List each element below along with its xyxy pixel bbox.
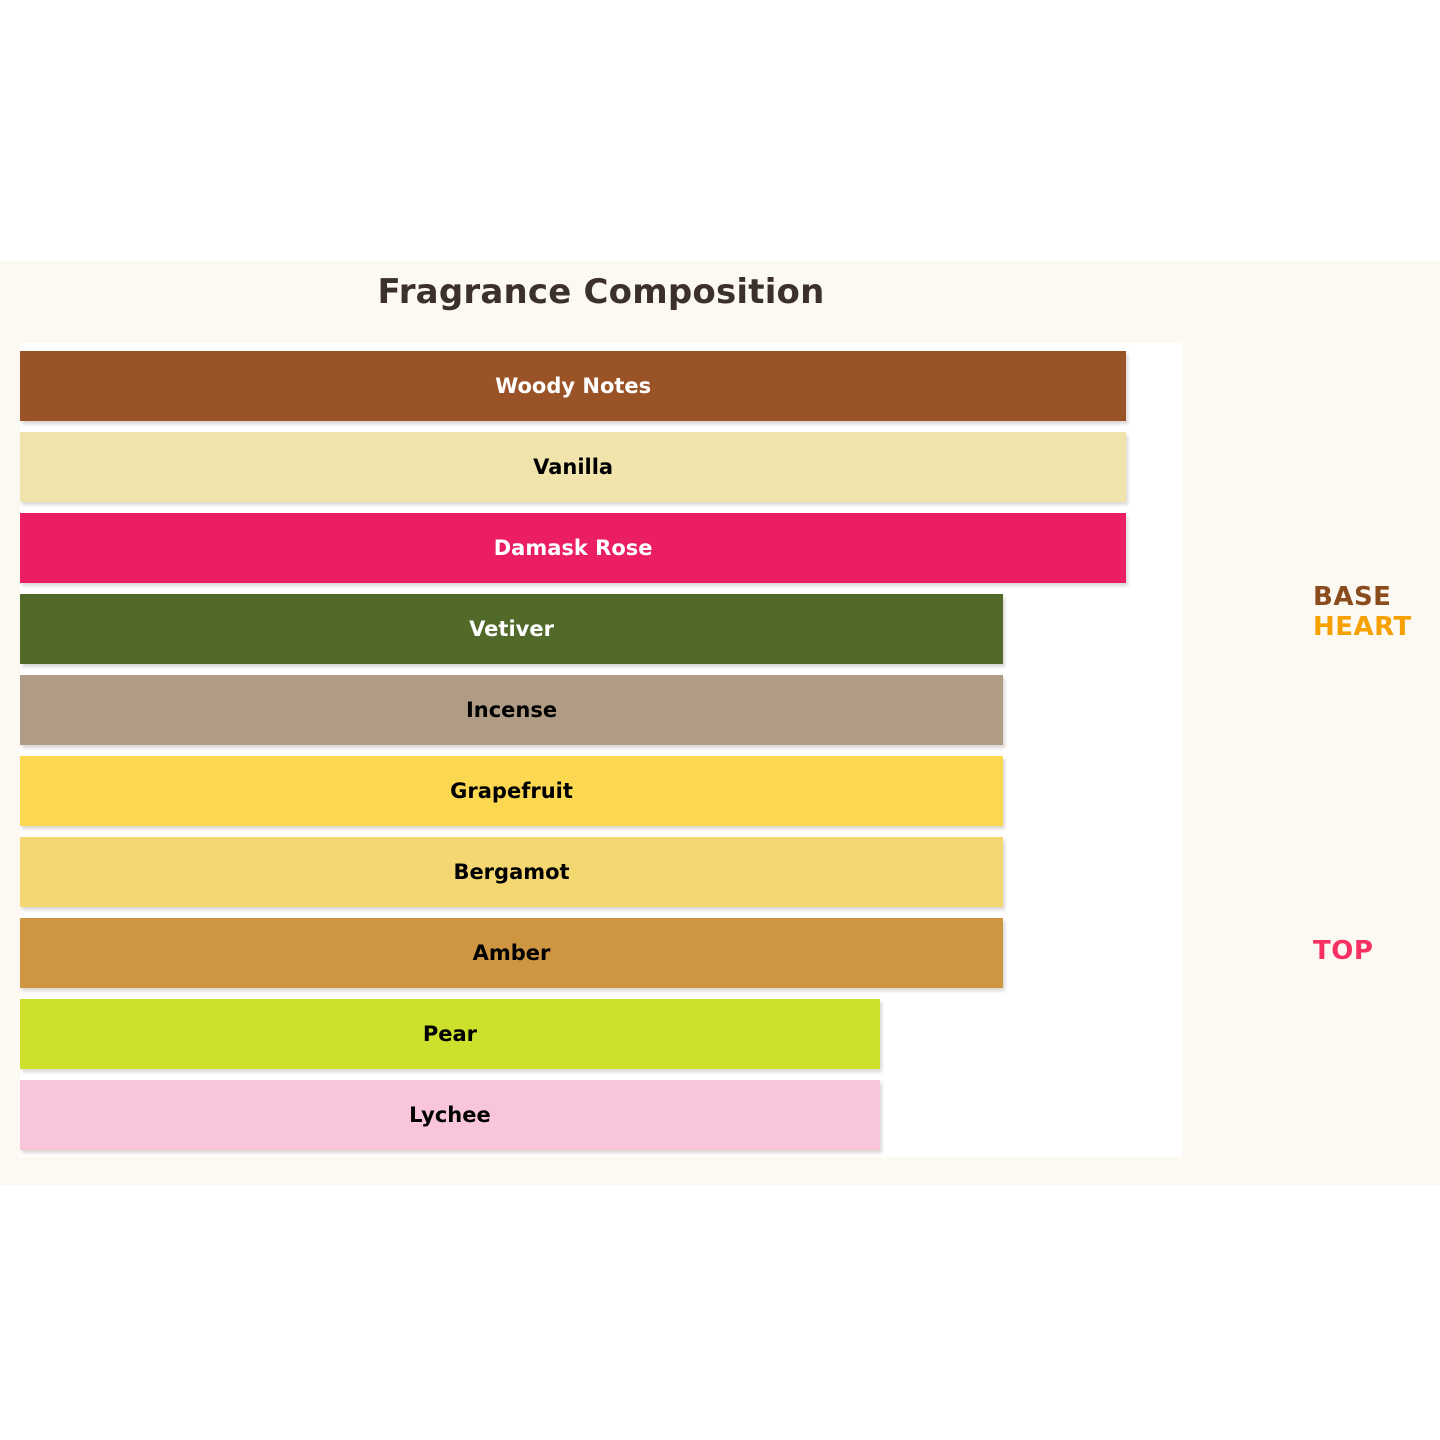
bar-row: Lychee — [20, 1080, 1182, 1150]
bar-row: Vetiver — [20, 594, 1182, 664]
bar-amber[interactable] — [20, 918, 1003, 988]
bar-pear[interactable] — [20, 999, 880, 1069]
bar-row: Amber — [20, 918, 1182, 988]
chart-figure: Fragrance Composition Woody NotesVanilla… — [0, 0, 1440, 1440]
bar-vetiver[interactable] — [20, 594, 1003, 664]
bar-row: Vanilla — [20, 432, 1182, 502]
bar-grapefruit[interactable] — [20, 756, 1003, 826]
bar-lychee[interactable] — [20, 1080, 880, 1150]
bar-incense[interactable] — [20, 675, 1003, 745]
group-label-heart: HEART — [1313, 612, 1412, 642]
bar-damask-rose[interactable] — [20, 513, 1126, 583]
bar-series: Woody NotesVanillaDamask RoseVetiverInce… — [20, 343, 1182, 1157]
bar-row: Grapefruit — [20, 756, 1182, 826]
page-title: Fragrance Composition — [20, 272, 1182, 312]
bar-row: Incense — [20, 675, 1182, 745]
bar-vanilla[interactable] — [20, 432, 1126, 502]
bar-row: Bergamot — [20, 837, 1182, 907]
group-label-top: TOP — [1313, 936, 1373, 966]
bar-row: Damask Rose — [20, 513, 1182, 583]
bar-woody-notes[interactable] — [20, 351, 1126, 421]
bar-row: Woody Notes — [20, 351, 1182, 421]
group-label-base: BASE — [1313, 582, 1391, 612]
bar-bergamot[interactable] — [20, 837, 1003, 907]
bar-row: Pear — [20, 999, 1182, 1069]
